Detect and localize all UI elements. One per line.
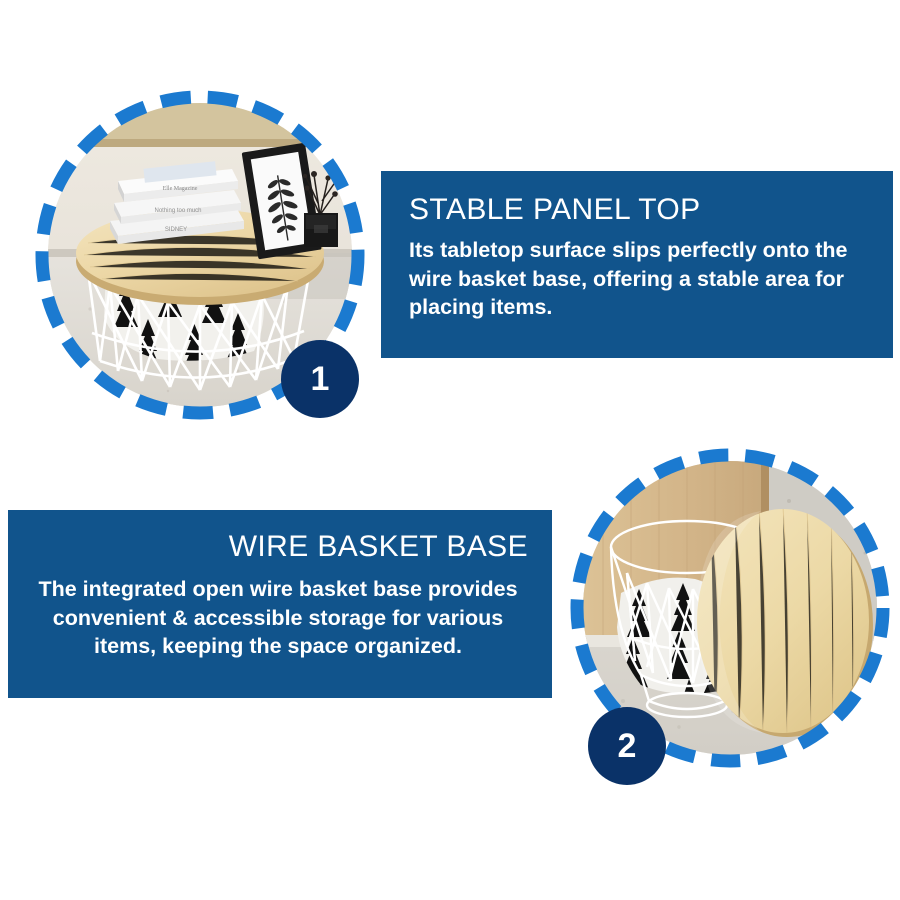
feature-panel-1: STABLE PANEL TOP Its tabletop surface sl… bbox=[381, 171, 893, 358]
step-badge-2: 2 bbox=[588, 707, 666, 785]
feature-panel-2: WIRE BASKET BASE The integrated open wir… bbox=[8, 510, 552, 698]
feature-title-2: WIRE BASKET BASE bbox=[28, 530, 528, 563]
feature-title-1: STABLE PANEL TOP bbox=[409, 193, 873, 226]
feature-photo-1: SIDNEY Nothing too much Elle Magazine bbox=[35, 90, 365, 420]
feature-body-1: Its tabletop surface slips perfectly ont… bbox=[409, 236, 873, 322]
step-badge-1: 1 bbox=[281, 340, 359, 418]
svg-text:Elle Magazine: Elle Magazine bbox=[163, 186, 198, 192]
svg-text:Nothing too much: Nothing too much bbox=[154, 208, 201, 214]
infographic-canvas: SIDNEY Nothing too much Elle Magazine bbox=[0, 0, 900, 900]
step-number-1: 1 bbox=[311, 362, 330, 396]
feature-photo-2: 2 bbox=[570, 448, 890, 768]
feature-body-2: The integrated open wire basket base pro… bbox=[28, 575, 528, 661]
step-number-2: 2 bbox=[618, 729, 637, 763]
svg-text:SIDNEY: SIDNEY bbox=[165, 227, 187, 233]
